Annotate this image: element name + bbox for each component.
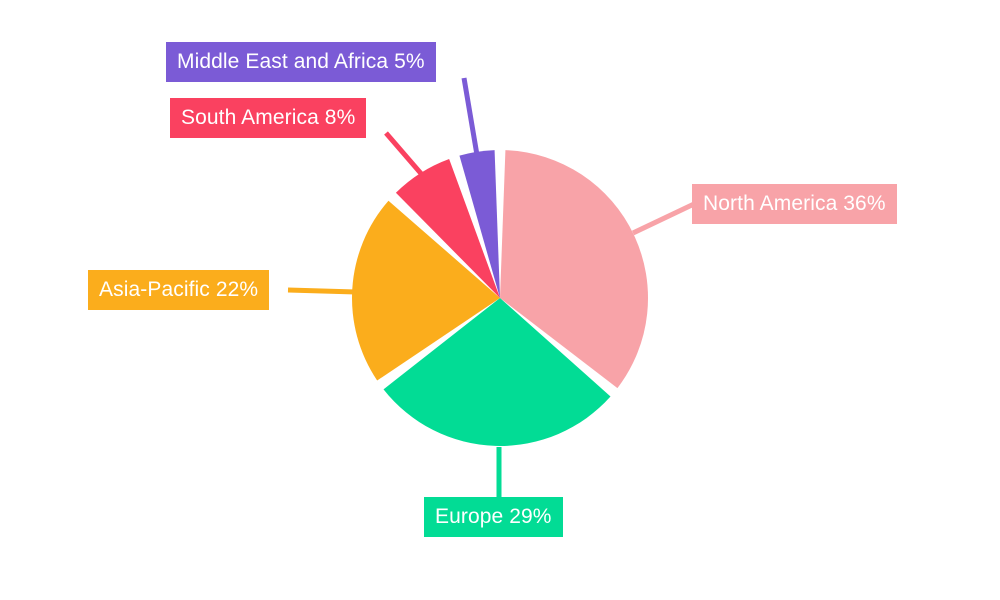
pie-slice-label-europe[interactable]: Europe 29% bbox=[424, 497, 563, 537]
pie-slice-label-text: South America 8% bbox=[181, 107, 355, 128]
pie-slice-label-south-america[interactable]: South America 8% bbox=[170, 98, 366, 138]
pie-slice-label-middle-east-and-africa[interactable]: Middle East and Africa 5% bbox=[166, 42, 436, 82]
pie-slice-label-text: Europe 29% bbox=[435, 506, 552, 527]
pie-slices bbox=[352, 150, 648, 446]
pie-slice-label-text: North America 36% bbox=[703, 193, 886, 214]
leader-line-asia-pacific bbox=[288, 290, 356, 292]
pie-slice-label-north-america[interactable]: North America 36% bbox=[692, 184, 897, 224]
leader-line-middle-east-and-africa bbox=[464, 78, 477, 155]
pie-slice-label-text: Middle East and Africa 5% bbox=[177, 51, 425, 72]
pie-slice-label-text: Asia-Pacific 22% bbox=[99, 279, 258, 300]
leader-line-north-america bbox=[633, 204, 694, 233]
pie-chart-figure: North America 36% Europe 29% Asia-Pacifi… bbox=[0, 0, 1000, 600]
pie-slice-label-asia-pacific[interactable]: Asia-Pacific 22% bbox=[88, 270, 269, 310]
leader-line-south-america bbox=[386, 133, 424, 177]
